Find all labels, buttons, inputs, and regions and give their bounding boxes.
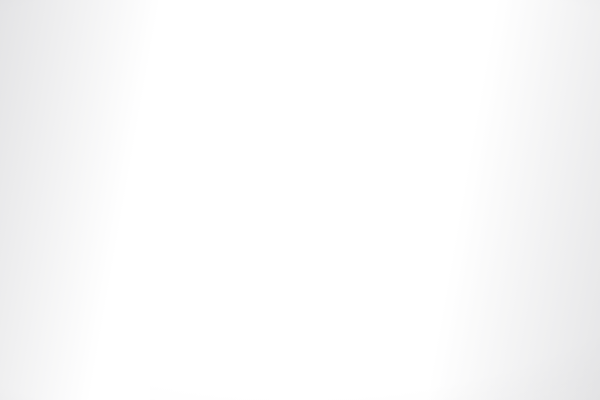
feature-divider [14, 86, 229, 87]
feature-stille-mechanisme: STILLE MECHANISME Geruisloze wijzers van… [371, 168, 586, 233]
feature-schuimaf-standhouder: SCHUIMAF- STANDHOUDER Maakt het behouden… [371, 277, 586, 342]
ultra-hd-icon: ultra HD [14, 162, 42, 188]
picture-frame-icon [560, 54, 586, 80]
feature-title: SCHUIMAF- STANDHOUDER [447, 277, 551, 307]
feature-subtitle-line1: Gladde en veilige afwerking [14, 318, 229, 331]
feature-subtitle-line1: Maakt het behouden van een gelijke [371, 316, 586, 329]
connector-dot-gehard-glas [192, 123, 201, 132]
feature-title: HOOGWAARDIGE PRINT [51, 160, 168, 190]
gear-icon [560, 170, 586, 196]
feature-header: GEHARD GLAS [14, 52, 229, 82]
feature-title: STILLE MECHANISME [455, 168, 551, 198]
foam-pad-side [382, 250, 385, 270]
feature-title-line1: GESLEPEN [49, 279, 121, 294]
feature-divider [371, 86, 586, 87]
feature-header: ultra HD HOOGWAARDIGE PRINT [14, 160, 229, 190]
feature-title-line1: SCHUIMAF- [472, 277, 551, 292]
connector-dot-schuimaf-standhouder [373, 260, 382, 269]
feature-gehard-glas: GEHARD GLAS Bestand tegen breuk en krass… [14, 52, 229, 117]
feature-subtitle-line2: van de klok [371, 220, 586, 233]
movement-block [354, 181, 366, 190]
feature-title-line2: STANDHOUDER [447, 292, 551, 307]
connector-dot-duurzame-handgreep [381, 150, 390, 159]
feature-title: DUURZAME HANDGREEP [465, 52, 551, 82]
feature-subtitle-line1: Intense kleuren en [14, 199, 229, 212]
feature-header: GESLEPEN RANDEN [14, 279, 229, 309]
feature-title-line2: RANDEN [49, 294, 121, 309]
feature-subtitle-line1: Geruisloze wijzers [371, 207, 586, 220]
feature-title-line1: DUURZAME [472, 52, 551, 67]
feature-subtitle-line1: Bestand tegen breuk [14, 91, 229, 104]
ultra-hd-icon-bottom-label: HD [20, 172, 36, 183]
infographic-canvas: GEHARD GLAS Bestand tegen breuk en krass… [0, 0, 600, 400]
feature-geslepen-randen: GESLEPEN RANDEN Gladde en veilige afwerk… [14, 279, 229, 331]
feature-divider [14, 194, 229, 195]
feature-subtitle-line2: en krassen [14, 104, 229, 117]
feature-title-line2: MECHANISME [455, 183, 551, 198]
feature-title: GESLEPEN RANDEN [49, 279, 121, 309]
feature-header: DUURZAME HANDGREEP [371, 52, 586, 82]
feature-title-line2: PRINT [51, 175, 168, 190]
feature-hoogwaardige-print: ultra HD HOOGWAARDIGE PRINT Intense kleu… [14, 160, 229, 225]
feature-subtitle-line2: afstand tussen de klok en de muur mogeli… [371, 329, 586, 342]
feature-title-line1: HOOGWAARDIGE [51, 160, 168, 175]
feature-title-line2: GLAS [49, 67, 108, 82]
feature-title-line1: STILLE [502, 168, 551, 183]
diamond-icon [14, 54, 40, 80]
feature-divider [14, 313, 229, 314]
diagonal-lines-icon [14, 281, 40, 307]
feature-title-line1: GEHARD [49, 52, 108, 67]
arrow-down-stack-icon [560, 279, 586, 305]
feature-header: STILLE MECHANISME [371, 168, 586, 198]
feature-divider [371, 202, 586, 203]
feature-duurzame-handgreep: DUURZAME HANDGREEP Eenvoudige installati… [371, 52, 586, 117]
feature-divider [371, 311, 586, 312]
feature-title: GEHARD GLAS [49, 52, 108, 82]
feature-subtitle-line2: een duidelijk beeld [14, 212, 229, 225]
feature-title-line2: HANDGREEP [465, 67, 551, 82]
feature-subtitle-line2: van de klok aan de muur [371, 104, 586, 117]
feature-header: SCHUIMAF- STANDHOUDER [371, 277, 586, 307]
feature-subtitle-line1: Eenvoudige installatie [371, 91, 586, 104]
